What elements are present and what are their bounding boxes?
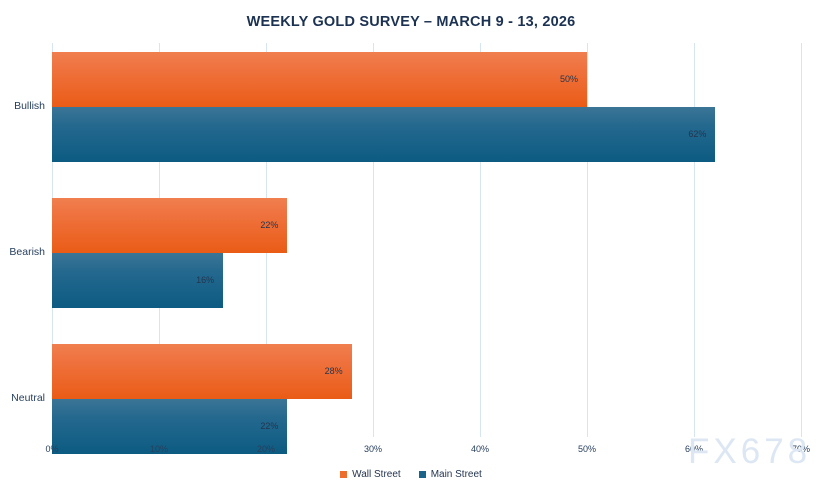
x-tick-10pct: 10% (150, 444, 168, 454)
bar-bullish-wall-street[interactable]: 50% (52, 52, 587, 107)
bar-neutral-main-street[interactable]: 22% (52, 399, 287, 454)
x-tick-0pct: 0% (45, 444, 58, 454)
x-tick-60pct: 60% (685, 444, 703, 454)
legend-swatch-icon (419, 471, 426, 478)
category-label-neutral: Neutral (0, 392, 45, 404)
bar-value-label: 16% (196, 276, 223, 285)
x-tick-50pct: 50% (578, 444, 596, 454)
weekly-gold-survey-chart: WEEKLY GOLD SURVEY – MARCH 9 - 13, 2026 … (0, 0, 822, 494)
legend-label: Main Street (431, 469, 482, 480)
legend-item-main-street[interactable]: Main Street (419, 469, 482, 480)
category-label-bullish: Bullish (0, 100, 45, 112)
x-tick-70pct: 70% (792, 444, 810, 454)
gridline-70pct (801, 43, 802, 437)
bar-value-label: 22% (260, 422, 287, 431)
bar-group-bullish: 50%62% (52, 52, 801, 162)
legend-label: Wall Street (352, 469, 401, 480)
category-label-bearish: Bearish (0, 246, 45, 258)
bar-group-bearish: 22%16% (52, 198, 801, 308)
x-tick-20pct: 20% (257, 444, 275, 454)
bar-group-neutral: 28%22% (52, 344, 801, 454)
legend-swatch-icon (340, 471, 347, 478)
bar-value-label: 62% (688, 130, 715, 139)
bar-neutral-wall-street[interactable]: 28% (52, 344, 352, 399)
bar-bearish-main-street[interactable]: 16% (52, 253, 223, 308)
x-tick-30pct: 30% (364, 444, 382, 454)
bar-value-label: 28% (325, 367, 352, 376)
x-tick-40pct: 40% (471, 444, 489, 454)
chart-legend: Wall StreetMain Street (0, 469, 822, 480)
bar-bullish-main-street[interactable]: 62% (52, 107, 715, 162)
bar-value-label: 50% (560, 75, 587, 84)
chart-title: WEEKLY GOLD SURVEY – MARCH 9 - 13, 2026 (0, 14, 822, 30)
plot-area: 50%62%22%16%28%22% (52, 43, 801, 437)
bar-value-label: 22% (260, 221, 287, 230)
legend-item-wall-street[interactable]: Wall Street (340, 469, 401, 480)
bar-bearish-wall-street[interactable]: 22% (52, 198, 287, 253)
